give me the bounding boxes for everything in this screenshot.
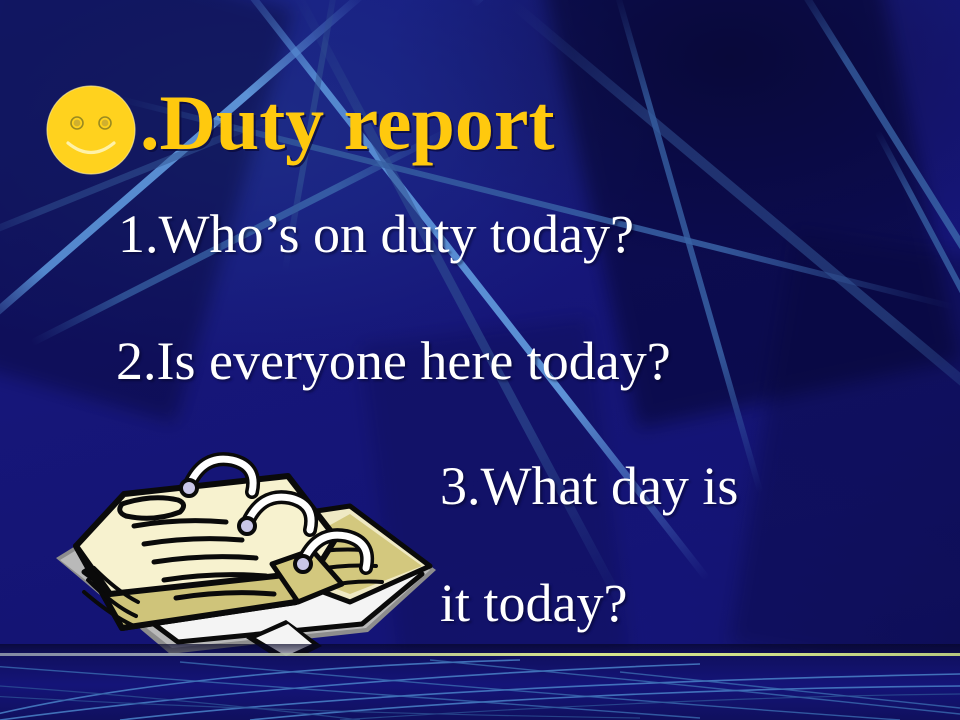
question-line-1: 1.Who’s on duty today? xyxy=(118,203,634,265)
slide-footer xyxy=(0,656,960,720)
question-line-4: it today? xyxy=(440,572,627,634)
spiral-notebook-clipart xyxy=(50,442,442,674)
question-line-3: 3.What day is xyxy=(440,455,738,517)
question-line-2: 2.Is everyone here today? xyxy=(116,330,671,392)
smiley-face-icon xyxy=(46,85,136,175)
slide-title: .Duty report xyxy=(140,76,555,170)
presentation-slide: .Duty report 1.Who’s on duty today? 2.Is… xyxy=(0,0,960,720)
